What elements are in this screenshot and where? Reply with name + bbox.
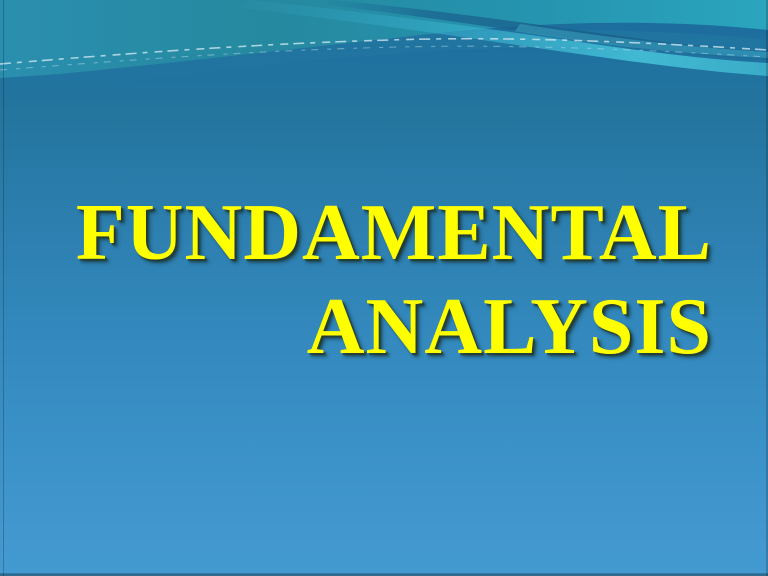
title-line-1: FUNDAMENTAL bbox=[56, 186, 712, 280]
title-line-2: ANALYSIS bbox=[56, 280, 712, 374]
wave-band-cyan-arc bbox=[238, 0, 768, 76]
wave-band-teal-upper bbox=[0, 0, 768, 78]
wave-band-cyan-sliver bbox=[515, 24, 768, 58]
wave-band-body-curve bbox=[0, 30, 768, 98]
wave-dashed-highlight-line-secondary bbox=[0, 46, 768, 70]
slide-title: FUNDAMENTAL ANALYSIS bbox=[56, 186, 712, 374]
wave-band-dark-diagonal bbox=[318, 0, 768, 60]
wave-decoration bbox=[0, 0, 768, 140]
slide-edge-left bbox=[3, 0, 4, 576]
title-slide: FUNDAMENTAL ANALYSIS bbox=[0, 0, 768, 576]
wave-dashed-highlight-line bbox=[0, 39, 768, 64]
